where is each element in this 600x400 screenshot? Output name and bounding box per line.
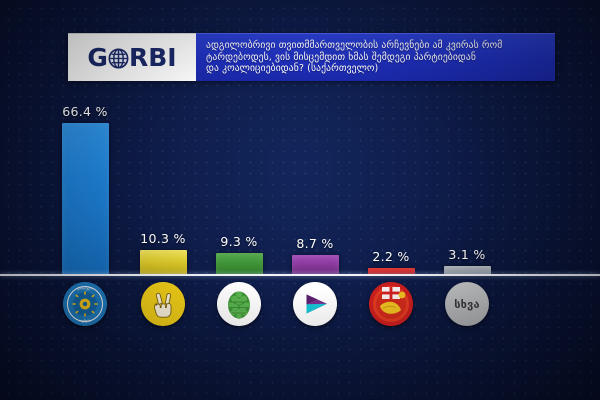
- gorbi-logo-text: G RBI: [87, 45, 176, 70]
- bar-column: 66.4 %: [54, 95, 116, 275]
- svg-text:ოცნება: ოცნება: [79, 319, 91, 323]
- poll-result-graphic: G RBI ადგილობრივი თვითმმართველობის არჩევ…: [0, 0, 600, 400]
- bar-value-label: 2.2 %: [372, 249, 409, 264]
- bar-column: 8.7 %: [284, 95, 346, 275]
- party-item-alliance-of-patriots[interactable]: [360, 282, 422, 326]
- party-item-strategy-builder[interactable]: [284, 282, 346, 326]
- pinecone-emblem-icon[interactable]: [217, 282, 261, 326]
- patriots-emblem-icon[interactable]: [369, 282, 413, 326]
- party-emblem-row: ქართული ოცნება: [0, 276, 600, 338]
- party-item-other[interactable]: სხვა: [436, 282, 498, 326]
- bar-value-label: 3.1 %: [448, 247, 485, 262]
- party-item-georgian-dream[interactable]: ქართული ოცნება: [54, 282, 116, 326]
- bar-value-label: 66.4 %: [62, 104, 107, 119]
- gorbi-logo: G RBI: [68, 33, 196, 81]
- logo-letters-rbi: RBI: [129, 45, 177, 70]
- bar-value-label: 8.7 %: [296, 236, 333, 251]
- logo-letter-g: G: [87, 45, 108, 70]
- bar-lelo: [216, 253, 263, 275]
- header-banner: G RBI ადგილობრივი თვითმმართველობის არჩევ…: [68, 33, 555, 81]
- question-line-3: და კოალიციებიდან? (საქართველო): [206, 63, 547, 75]
- svg-text:ქართული: ქართული: [77, 287, 93, 291]
- bar-column: 9.3 %: [208, 95, 270, 275]
- bar-chart: 66.4 % 10.3 % 9.3 % 8.7 % 2.2 % 3.1 %: [0, 95, 600, 275]
- poll-question: ადგილობრივი თვითმმართველობის არჩევნები ა…: [196, 33, 555, 81]
- arrow-triangle-emblem-icon[interactable]: [293, 282, 337, 326]
- question-line-1: ადგილობრივი თვითმმართველობის არჩევნები ა…: [206, 40, 547, 52]
- georgian-dream-emblem-icon[interactable]: ქართული ოცნება: [63, 282, 107, 326]
- party-item-united-national-movement[interactable]: [132, 282, 194, 326]
- party-item-lelo[interactable]: [208, 282, 270, 326]
- bar-value-label: 9.3 %: [220, 234, 257, 249]
- bar-column: 3.1 %: [436, 95, 498, 275]
- bar-column: 10.3 %: [132, 95, 194, 275]
- other-emblem-icon[interactable]: სხვა: [445, 282, 489, 326]
- bar-strategy-builder: [292, 255, 339, 275]
- victory-hand-emblem-icon[interactable]: [141, 282, 185, 326]
- bar-value-label: 10.3 %: [140, 231, 185, 246]
- question-line-2: ტარდებოდეს, ვის მისცემდით ხმას შემდეგი პ…: [206, 52, 547, 64]
- globe-grid-icon: [108, 48, 129, 69]
- other-label: სხვა: [454, 298, 480, 311]
- bar-column: 2.2 %: [360, 95, 422, 275]
- bar-georgian-dream: [62, 123, 109, 275]
- bar-united-national-movement: [140, 250, 187, 275]
